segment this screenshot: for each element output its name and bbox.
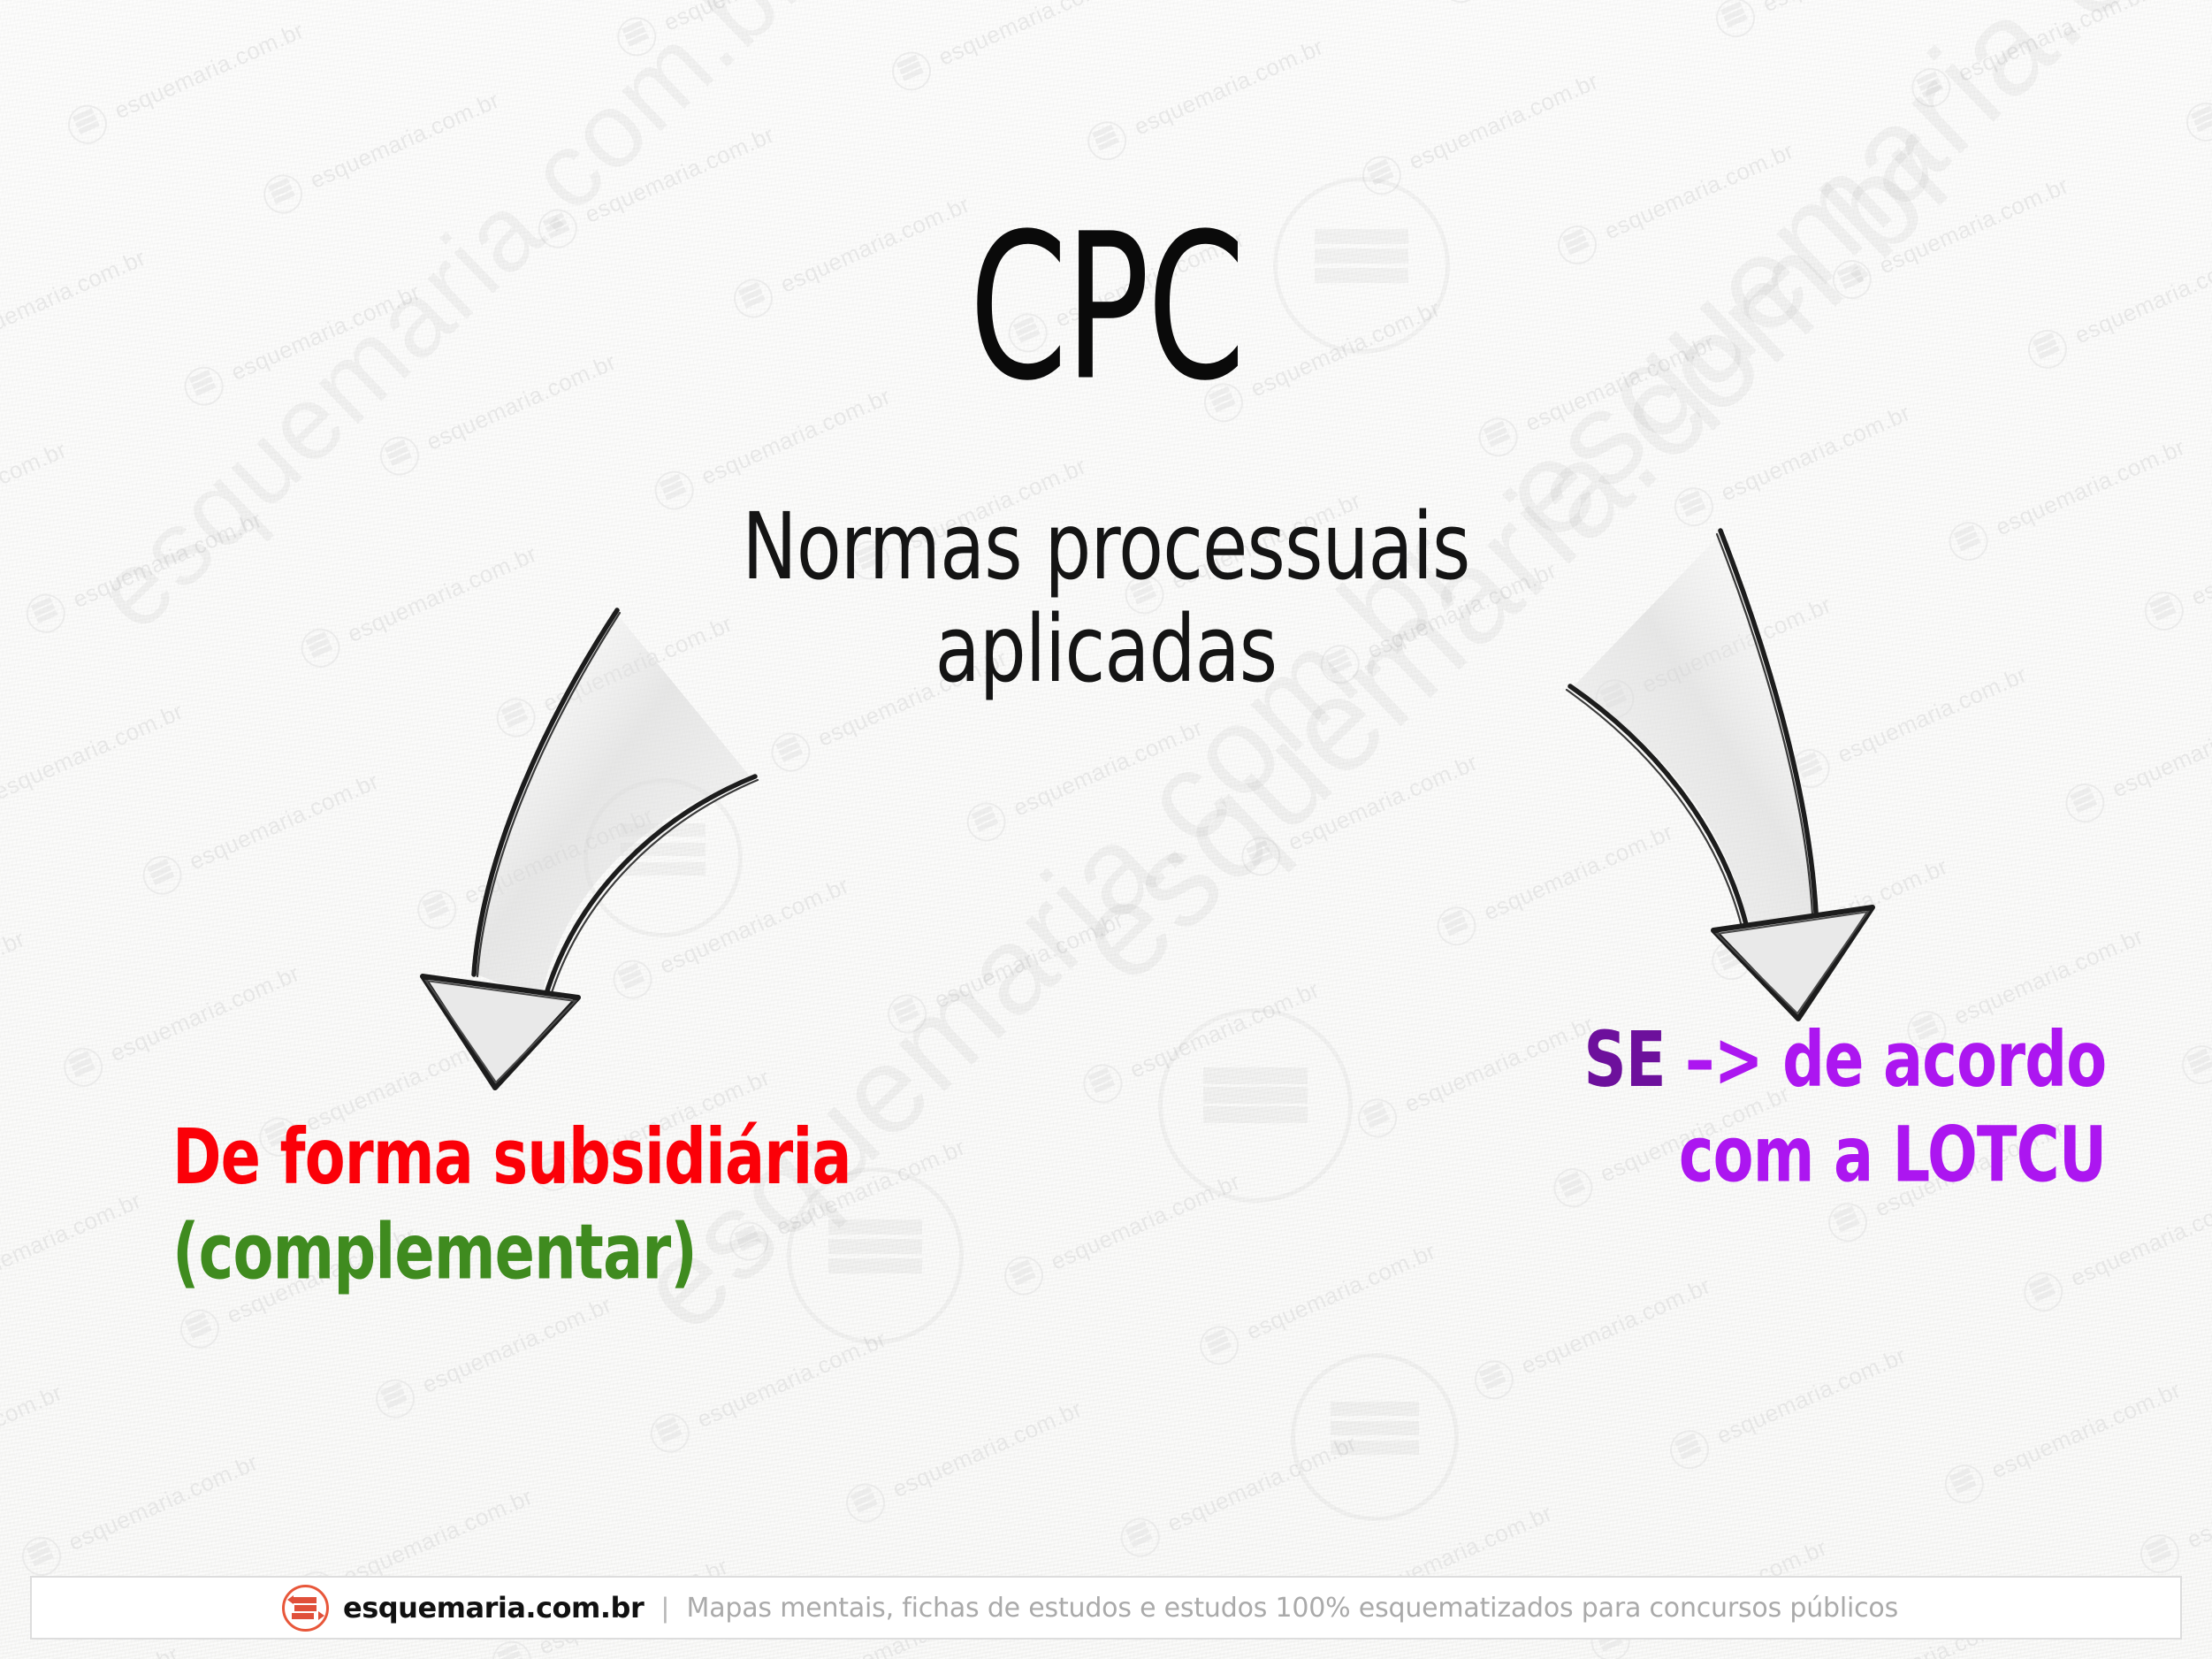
branch-left-line-1: De forma subsidiária	[172, 1110, 851, 1204]
watermark-unit: esquemaria.com.br	[0, 238, 152, 377]
watermark-label: esquemaria.com.br	[1479, 817, 1677, 925]
watermark-label: esquemaria.com.br	[1284, 748, 1482, 856]
watermark-label: esquemaria.com.br	[1125, 975, 1323, 1083]
watermark-unit: esquemaria.com.br	[370, 1285, 618, 1424]
watermark-label: esquemaria.com.br	[64, 1448, 262, 1556]
watermark-logo-icon	[374, 430, 425, 481]
watermark-logo-icon	[960, 796, 1011, 847]
watermark-logo-icon	[16, 1530, 67, 1581]
branch-left-label: De forma subsidiária (complementar)	[172, 1110, 851, 1300]
watermark-logo-icon	[1235, 830, 1286, 882]
watermark-logo-icon	[645, 1407, 696, 1458]
watermark-label: esquemaria.com.br	[1242, 1237, 1440, 1345]
watermark-unit: esquemaria.com.br	[1194, 1232, 1442, 1371]
watermark-unit: esquemaria.com.br	[1356, 61, 1605, 200]
watermark-unit: esquemaria.com.br	[1235, 743, 1484, 882]
watermark-logo-icon	[2022, 323, 2073, 374]
footer-bar: esquemaria.com.br | Mapas mentais, ficha…	[30, 1576, 2182, 1640]
watermark-label: esquemaria.com.br	[889, 1395, 1087, 1502]
watermark-logo-icon	[606, 953, 658, 1005]
watermark-unit: esquemaria.com.br	[1664, 1335, 1912, 1474]
watermark-unit: esquemaria.com.br	[1939, 1370, 2187, 1509]
watermark-logo-icon	[136, 849, 187, 900]
watermark-logo-icon	[2017, 1266, 2069, 1318]
footer-tagline: Mapas mentais, fichas de estudos e estud…	[687, 1593, 1898, 1624]
watermark-unit: esquemaria.com.br	[16, 1442, 264, 1581]
watermark-label: esquemaria.com.br	[2186, 502, 2212, 610]
watermark-logo-icon	[1664, 1424, 1715, 1475]
watermark-logo-icon	[881, 988, 933, 1039]
watermark-unit: esquemaria.com.br	[1435, 0, 1683, 9]
watermark-unit: esquemaria.com.br	[1081, 27, 1330, 166]
watermark-unit: esquemaria.com.br	[2180, 8, 2212, 147]
watermark-logo-icon	[1710, 0, 1761, 43]
watermark-unit: esquemaria.com.br	[606, 866, 855, 1005]
watermark-unit: esquemaria.com.br	[2059, 689, 2212, 828]
watermark-label: esquemaria.com.br	[0, 243, 149, 351]
watermark-logo-icon	[1705, 935, 1757, 986]
watermark-label: esquemaria.com.br	[2071, 241, 2212, 348]
watermark-label: esquemaria.com.br	[660, 0, 858, 36]
footer-separator: |	[658, 1592, 672, 1625]
watermark-label: esquemaria.com.br	[1009, 714, 1207, 822]
branch-right-line-2: com a LOTCU	[1583, 1107, 2106, 1202]
watermark-logo-icon	[611, 11, 662, 62]
watermark-label: esquemaria.com.br	[0, 1640, 183, 1659]
watermark-label: esquemaria.com.br	[1754, 852, 1952, 959]
watermark-logo-icon	[1077, 1058, 1128, 1109]
watermark-label: esquemaria.com.br	[934, 0, 1133, 71]
watermark-unit: esquemaria.com.br	[1905, 0, 2154, 113]
watermark-large-logo-icon	[1291, 1353, 1459, 1521]
watermark-logo-icon	[1822, 1196, 1873, 1248]
watermark-logo-icon	[2180, 96, 2212, 147]
watermark-logo-icon	[174, 1303, 225, 1354]
watermark-logo-icon	[840, 1477, 891, 1528]
watermark-logo-icon	[886, 45, 937, 96]
watermark-logo-icon	[998, 1250, 1049, 1301]
watermark-label: esquemaria.com.br	[110, 16, 308, 124]
watermark-label: esquemaria.com.br	[418, 1290, 616, 1398]
watermark-unit: esquemaria.com.br	[881, 900, 1130, 1039]
watermark-label: esquemaria.com.br	[2103, 1637, 2212, 1659]
watermark-label: esquemaria.com.br	[1954, 0, 2152, 87]
watermark-unit: esquemaria.com.br	[611, 0, 859, 62]
watermark-logo-icon	[1115, 1511, 1166, 1563]
watermark-logo-icon	[1468, 1354, 1520, 1405]
watermark-unit: esquemaria.com.br	[1468, 1266, 1717, 1405]
watermark-label: esquemaria.com.br	[0, 924, 28, 1032]
watermark-unit: esquemaria.com.br	[840, 1389, 1088, 1528]
mindmap-canvas: esquemaria.com.bresquemaria.com.bresquem…	[0, 0, 2212, 1659]
watermark-label: esquemaria.com.br	[1712, 1341, 1911, 1449]
watermark-unit: esquemaria.com.br	[1430, 812, 1679, 951]
watermark-label: esquemaria.com.br	[1400, 1010, 1598, 1118]
watermark-label: esquemaria.com.br	[1046, 1167, 1244, 1275]
watermark-unit: esquemaria.com.br	[0, 430, 72, 569]
watermark-logo-icon	[2176, 1039, 2212, 1090]
watermark-unit: esquemaria.com.br	[2139, 497, 2212, 636]
watermark-label: esquemaria.com.br	[930, 906, 1128, 1013]
watermark-unit: esquemaria.com.br	[2022, 235, 2212, 374]
watermark-logo-icon	[765, 726, 816, 777]
watermark-logo-icon	[62, 98, 113, 149]
watermark-logo-icon	[370, 1372, 421, 1424]
watermark-logo-icon	[178, 360, 229, 411]
watermark-unit: esquemaria.com.br	[645, 1319, 893, 1458]
watermark-unit: esquemaria.com.br	[1352, 1005, 1600, 1143]
watermark-unit: esquemaria.com.br	[0, 1372, 69, 1511]
page-title: CPC	[287, 207, 1924, 409]
watermark-logo-icon	[1081, 115, 1133, 166]
subtitle-line-2: aplicadas	[221, 598, 1991, 700]
watermark-logo-icon	[1194, 1319, 1245, 1371]
watermark-label: esquemaria.com.br	[655, 871, 853, 979]
watermark-unit: esquemaria.com.br	[1115, 1424, 1363, 1563]
watermark-label: esquemaria.com.br	[1404, 66, 1602, 174]
watermark-unit: esquemaria.com.br	[957, 1651, 1205, 1659]
watermark-large-logo-icon	[584, 778, 743, 937]
watermark-large-logo-icon	[1158, 1008, 1353, 1203]
watermark-logo-icon	[411, 883, 462, 935]
watermark-label: esquemaria.com.br	[692, 1325, 890, 1433]
watermark-unit: esquemaria.com.br	[1077, 970, 1325, 1109]
watermark-logo-icon	[1785, 743, 1836, 794]
watermark-unit: esquemaria.com.br	[57, 953, 306, 1092]
branch-right-line-1: SE –> de acordo	[1583, 1013, 2106, 1107]
watermark-label: esquemaria.com.br	[0, 1186, 145, 1294]
watermark-logo-icon	[1352, 1092, 1403, 1143]
page-subtitle: Normas processuais aplicadas	[221, 495, 1991, 701]
subtitle-line-1: Normas processuais	[221, 495, 1991, 598]
watermark-logo-icon	[57, 1041, 109, 1092]
watermark-label: esquemaria.com.br	[1991, 432, 2189, 540]
watermark-label: esquemaria.com.br	[1516, 1272, 1714, 1380]
watermark-logo-icon	[1435, 0, 1486, 9]
watermark-label: esquemaria.com.br	[339, 1482, 537, 1590]
watermark-label: esquemaria.com.br	[0, 697, 187, 805]
watermark-logo-icon	[19, 587, 71, 638]
watermark-logo-icon	[1939, 1458, 1990, 1510]
watermark-unit: esquemaria.com.br	[0, 919, 31, 1058]
watermark-unit: esquemaria.com.br	[886, 0, 1134, 96]
watermark-label: esquemaria.com.br	[0, 435, 71, 543]
watermark-unit: esquemaria.com.br	[2176, 951, 2212, 1089]
watermark-label: esquemaria.com.br	[306, 86, 504, 194]
watermark-logo-icon	[2134, 1528, 2185, 1579]
watermark-unit: esquemaria.com.br	[2134, 1440, 2212, 1579]
watermark-label: esquemaria.com.br	[1987, 1375, 2185, 1483]
watermark-logo-icon	[1905, 61, 1956, 112]
watermark-unit: esquemaria.com.br	[136, 761, 385, 900]
watermark-logo-icon	[2059, 777, 2110, 829]
watermark-label: esquemaria.com.br	[106, 959, 304, 1066]
branch-right-suffix: –> de acordo	[1665, 1014, 2106, 1104]
branch-right-prefix: SE	[1583, 1014, 1665, 1104]
watermark-unit: esquemaria.com.br	[0, 692, 189, 830]
watermark-unit: esquemaria.com.br	[960, 708, 1209, 847]
watermark-logo-icon	[2139, 585, 2190, 636]
watermark-unit: esquemaria.com.br	[998, 1162, 1247, 1301]
footer-brand[interactable]: esquemaria.com.br	[343, 1591, 644, 1625]
watermark-logo-icon	[1356, 149, 1407, 201]
watermark-unit: esquemaria.com.br	[0, 1181, 148, 1319]
watermark-label: esquemaria.com.br	[1130, 32, 1328, 140]
watermark-unit: esquemaria.com.br	[62, 11, 310, 149]
branch-left-line-2: (complementar)	[172, 1204, 851, 1299]
watermark-label: esquemaria.com.br	[185, 767, 383, 875]
watermark-label: esquemaria.com.br	[1716, 398, 1914, 506]
watermark-unit: esquemaria.com.br	[1705, 846, 1954, 985]
watermark-label: esquemaria.com.br	[460, 801, 658, 909]
watermark-unit: esquemaria.com.br	[1710, 0, 1958, 43]
watermark-label: esquemaria.com.br	[1758, 0, 1956, 18]
watermark-label: esquemaria.com.br	[2183, 1445, 2212, 1553]
watermark-logo-icon	[1473, 411, 1524, 463]
watermark-unit: esquemaria.com.br	[411, 796, 660, 935]
branch-right-label: SE –> de acordo com a LOTCU	[1583, 1013, 2106, 1203]
watermark-label: esquemaria.com.br	[0, 1378, 66, 1486]
watermark-unit: esquemaria.com.br	[257, 80, 506, 219]
watermark-label: esquemaria.com.br	[2108, 694, 2212, 802]
watermark-label: esquemaria.com.br	[1163, 1429, 1361, 1537]
esquemaria-logo-icon	[282, 1585, 329, 1632]
watermark-logo-icon	[1430, 900, 1482, 952]
